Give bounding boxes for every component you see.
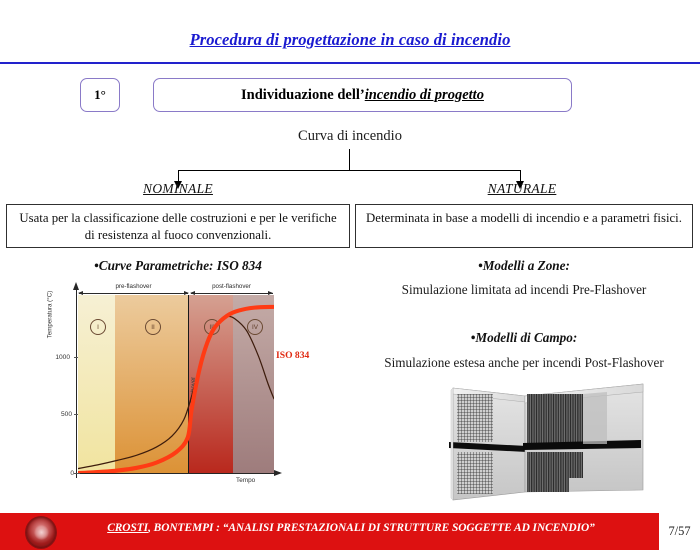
cfd-panel-left xyxy=(449,388,527,500)
tree-connector-horizontal xyxy=(178,170,521,171)
description-box-nominale: Usata per la classificazione delle costr… xyxy=(6,204,350,248)
page-title: Procedura di progettazione in caso di in… xyxy=(0,30,700,50)
chart-x-axis-arrow-icon xyxy=(274,470,282,476)
step-number-label: 1° xyxy=(94,87,106,103)
chart-phase-label-post: post-flashover xyxy=(189,283,274,290)
chart-plot-area: pre-flashover post-flashover I II III IV… xyxy=(78,295,274,473)
chart-y-axis-label: Temperatura (°C) xyxy=(47,272,54,358)
cfd-mesh-svg xyxy=(395,382,690,507)
footer-bar: CROSTI, BONTEMPI : “ANALISI PRESTAZIONAL… xyxy=(0,513,700,550)
chart-x-axis-label: Tempo xyxy=(236,477,255,484)
institution-seal-icon xyxy=(25,516,57,549)
chart-series-label-iso-834: ISO 834 xyxy=(276,350,309,361)
step-row: 1° Individuazione dell’incendio di proge… xyxy=(80,78,572,112)
footer-citation-rest: , BONTEMPI : “ANALISI PRESTAZIONALI DI S… xyxy=(148,522,595,534)
bullet-curve-parametriche: •Curve Parametriche: ISO 834 xyxy=(6,258,350,274)
cfd-mesh-figure xyxy=(395,382,690,507)
chart-x-axis xyxy=(76,473,276,474)
chart-series-svg xyxy=(78,295,274,473)
step-title-box: Individuazione dell’incendio di progetto xyxy=(153,78,572,112)
chart-ytick-mark-0 xyxy=(74,473,80,474)
branch-label-nominale: NOMINALE xyxy=(118,181,238,197)
text-modelli-a-zone: Simulazione limitata ad incendi Pre-Flas… xyxy=(355,282,693,298)
title-divider xyxy=(0,62,700,64)
chart-phase-span-post xyxy=(191,293,273,294)
footer-author-underlined: CROSTI xyxy=(107,522,148,534)
chart-series-curva-naturale xyxy=(78,316,274,468)
cfd-panel-right xyxy=(523,384,643,492)
branch-label-naturale: NATURALE xyxy=(462,181,582,197)
bullet-modelli-a-zone: •Modelli a Zone: xyxy=(355,258,693,274)
description-box-naturale: Determinata in base a modelli di incendi… xyxy=(355,204,693,248)
step-title-emphasis: incendio di progetto xyxy=(365,87,484,103)
bullet-modelli-di-campo: •Modelli di Campo: xyxy=(355,330,693,346)
chart-ytick-500: 500 xyxy=(46,411,72,418)
chart-series-iso-834 xyxy=(78,307,274,473)
tree-root-label: Curva di incendio xyxy=(0,128,700,145)
chart-phase-span-pre xyxy=(79,293,188,294)
text-modelli-di-campo: Simulazione estesa anche per incendi Pos… xyxy=(352,355,696,371)
page-number: 7/57 xyxy=(659,513,700,550)
fire-curve-chart: Temperatura (°C) Tempo 1000 500 0 pre-fl… xyxy=(40,281,312,507)
step-number-badge: 1° xyxy=(80,78,120,112)
chart-ytick-1000: 1000 xyxy=(44,354,70,361)
footer-citation: CROSTI, BONTEMPI : “ANALISI PRESTAZIONAL… xyxy=(66,522,636,534)
step-title-plain: Individuazione dell’ xyxy=(241,87,365,103)
tree-connector-vertical xyxy=(349,149,350,171)
chart-ytick-0: 0 xyxy=(48,470,74,477)
chart-phase-label-pre: pre-flashover xyxy=(78,283,189,290)
